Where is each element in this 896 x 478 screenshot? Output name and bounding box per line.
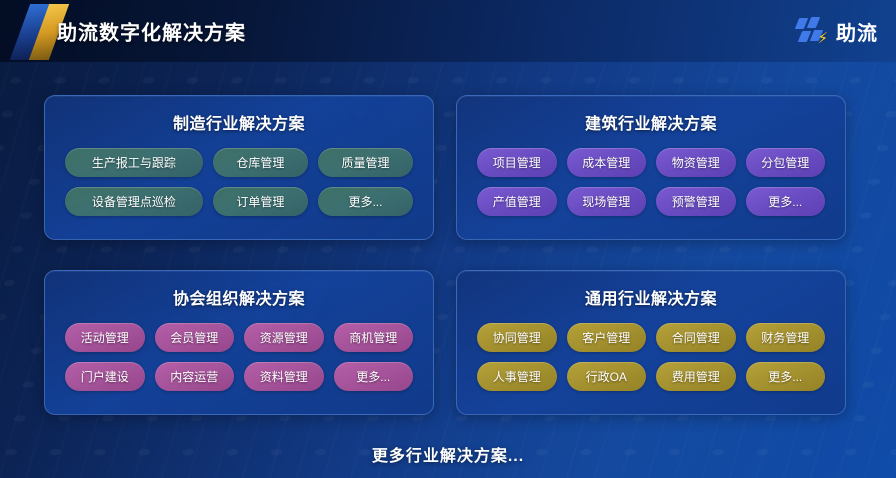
solution-pill[interactable]: 客户管理: [567, 323, 647, 352]
card-pill-rows: 生产报工与跟踪仓库管理质量管理设备管理点巡检订单管理更多...: [65, 148, 413, 216]
card-pill-rows: 协同管理客户管理合同管理财务管理人事管理行政OA费用管理更多...: [477, 323, 825, 391]
solution-pill[interactable]: 仓库管理: [213, 148, 308, 177]
solution-pill[interactable]: 项目管理: [477, 148, 557, 177]
pill-row: 产值管理现场管理预警管理更多...: [477, 187, 825, 216]
card-pill-rows: 活动管理会员管理资源管理商机管理门户建设内容运营资料管理更多...: [65, 323, 413, 391]
card-title: 通用行业解决方案: [477, 285, 825, 309]
solution-pill[interactable]: 商机管理: [334, 323, 414, 352]
card-title: 制造行业解决方案: [65, 110, 413, 134]
brand-logo[interactable]: ⚡ 助流: [796, 16, 878, 46]
solution-pill[interactable]: 更多...: [746, 362, 826, 391]
solution-card: 通用行业解决方案协同管理客户管理合同管理财务管理人事管理行政OA费用管理更多..…: [456, 270, 846, 415]
solution-pill[interactable]: 成本管理: [567, 148, 647, 177]
solution-pill[interactable]: 会员管理: [155, 323, 235, 352]
solution-pill[interactable]: 人事管理: [477, 362, 557, 391]
logo-parallelogram-2: [807, 17, 820, 28]
page-header: 助流数字化解决方案 ⚡ 助流: [0, 0, 896, 62]
solution-pill[interactable]: 生产报工与跟踪: [65, 148, 203, 177]
solution-pill[interactable]: 设备管理点巡检: [65, 187, 203, 216]
pill-row: 协同管理客户管理合同管理财务管理: [477, 323, 825, 352]
card-pill-rows: 项目管理成本管理物资管理分包管理产值管理现场管理预警管理更多...: [477, 148, 825, 216]
solution-pill[interactable]: 内容运营: [155, 362, 235, 391]
solution-card: 建筑行业解决方案项目管理成本管理物资管理分包管理产值管理现场管理预警管理更多..…: [456, 95, 846, 240]
pill-row: 生产报工与跟踪仓库管理质量管理: [65, 148, 413, 177]
solution-pill[interactable]: 更多...: [318, 187, 413, 216]
solution-pill[interactable]: 行政OA: [567, 362, 647, 391]
solution-pill[interactable]: 财务管理: [746, 323, 826, 352]
solution-pill[interactable]: 门户建设: [65, 362, 145, 391]
card-title: 建筑行业解决方案: [477, 110, 825, 134]
pill-row: 设备管理点巡检订单管理更多...: [65, 187, 413, 216]
pill-row: 活动管理会员管理资源管理商机管理: [65, 323, 413, 352]
solution-card: 制造行业解决方案生产报工与跟踪仓库管理质量管理设备管理点巡检订单管理更多...: [44, 95, 434, 240]
solution-pill[interactable]: 现场管理: [567, 187, 647, 216]
solution-pill[interactable]: 协同管理: [477, 323, 557, 352]
footer-more-solutions: 更多行业解决方案...: [0, 442, 896, 466]
solution-pill[interactable]: 资源管理: [244, 323, 324, 352]
solution-pill[interactable]: 物资管理: [656, 148, 736, 177]
solution-pill[interactable]: 预警管理: [656, 187, 736, 216]
solution-pill[interactable]: 费用管理: [656, 362, 736, 391]
solution-pill[interactable]: 分包管理: [746, 148, 826, 177]
solution-pill[interactable]: 质量管理: [318, 148, 413, 177]
solution-pill[interactable]: 产值管理: [477, 187, 557, 216]
brand-name: 助流: [836, 17, 878, 46]
page-title: 助流数字化解决方案: [57, 17, 246, 46]
solution-pill[interactable]: 活动管理: [65, 323, 145, 352]
solution-pill[interactable]: 更多...: [334, 362, 414, 391]
solution-pill[interactable]: 更多...: [746, 187, 826, 216]
solution-card: 协会组织解决方案活动管理会员管理资源管理商机管理门户建设内容运营资料管理更多..…: [44, 270, 434, 415]
pill-row: 人事管理行政OA费用管理更多...: [477, 362, 825, 391]
solution-card-grid: 制造行业解决方案生产报工与跟踪仓库管理质量管理设备管理点巡检订单管理更多...建…: [44, 95, 856, 415]
pill-row: 门户建设内容运营资料管理更多...: [65, 362, 413, 391]
solution-pill[interactable]: 资料管理: [244, 362, 324, 391]
zhuliu-bolt-logo-icon: ⚡: [796, 16, 830, 46]
pill-row: 项目管理成本管理物资管理分包管理: [477, 148, 825, 177]
lightning-bolt-icon: ⚡: [817, 31, 828, 46]
card-title: 协会组织解决方案: [65, 285, 413, 309]
solution-pill[interactable]: 订单管理: [213, 187, 308, 216]
solution-pill[interactable]: 合同管理: [656, 323, 736, 352]
